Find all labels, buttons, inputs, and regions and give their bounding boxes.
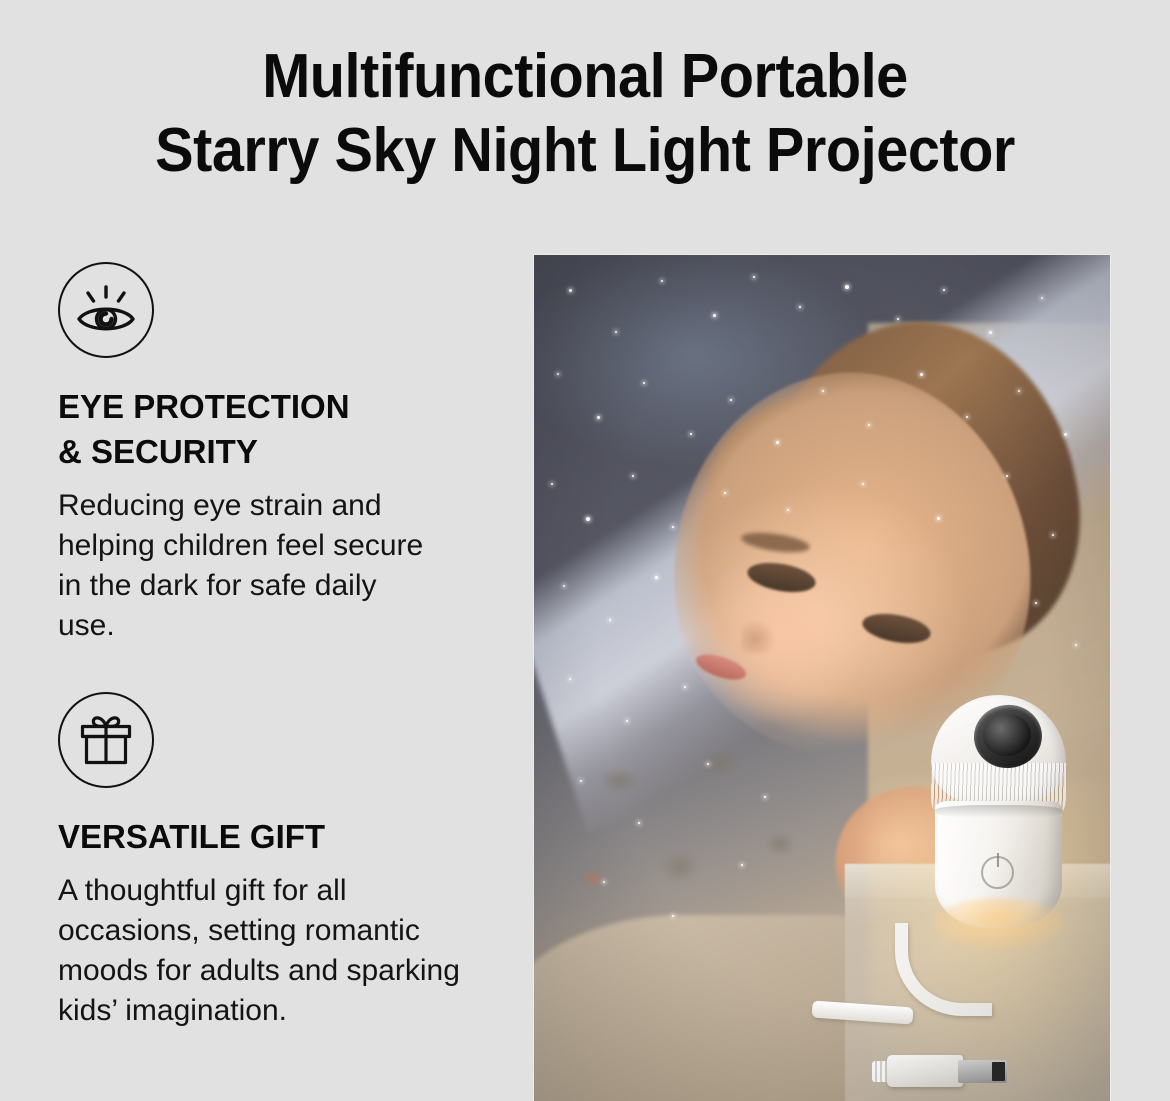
gift-icon <box>58 692 154 788</box>
feature-list: EYE PROTECTION & SECURITY Reducing eye s… <box>58 262 528 1031</box>
projector-seam <box>935 805 1062 818</box>
product-feature-banner: Multifunctional Portable Starry Sky Nigh… <box>0 0 1170 1101</box>
photo-scene <box>534 255 1110 1101</box>
feature-heading: EYE PROTECTION & SECURITY <box>58 384 528 474</box>
child-nose <box>741 619 776 653</box>
page-title: Multifunctional Portable Starry Sky Nigh… <box>0 40 1170 188</box>
night-light-projector-device <box>891 695 1110 1101</box>
title-line-2: Starry Sky Night Light Projector <box>41 114 1129 188</box>
eye-icon <box>58 262 154 358</box>
usb-shell <box>887 1055 963 1087</box>
usb-metal-tip <box>958 1060 1007 1084</box>
usb-connector <box>887 1050 1010 1092</box>
title-line-1: Multifunctional Portable <box>41 40 1129 114</box>
feature-body: Reducing eye strain and helping children… <box>58 486 528 646</box>
feature-eye-protection: EYE PROTECTION & SECURITY Reducing eye s… <box>58 262 528 646</box>
feature-heading: VERSATILE GIFT <box>58 814 528 859</box>
power-button-icon <box>981 856 1014 890</box>
feature-versatile-gift: VERSATILE GIFT A thoughtful gift for all… <box>58 692 528 1031</box>
product-lifestyle-photo <box>534 255 1110 1101</box>
feature-body: A thoughtful gift for all occasions, set… <box>58 871 528 1031</box>
